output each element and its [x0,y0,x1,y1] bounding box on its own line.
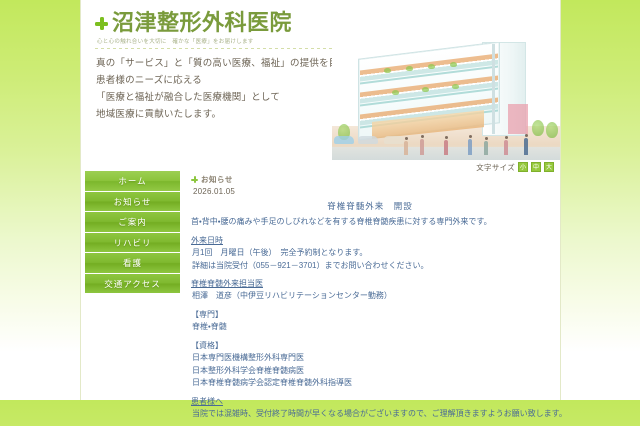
qualifications-section: 【資格】 日本専門医機構整形外科専門医 日本整形外科学会脊椎脊髄病医 日本脊椎脊… [191,340,549,390]
sidebar-item-rehabilitation[interactable]: リハビリ [85,233,180,254]
illustration-car [384,136,404,144]
site-logo[interactable]: 沼津整形外科医院 [95,12,292,36]
doctor-name: 相澤 道彦（中伊豆リハビリテーションセンター勤務） [191,290,549,303]
intro-line-2: 患者様のニーズに応える [96,72,351,89]
illustration-planter [428,64,435,69]
intro-line-3: 「医療と福祉が融合した医療機関」として [96,89,351,106]
illustration-planter [452,84,459,89]
site-tagline: 心と心の触れ合いを大切に 確かな「医療」をお届けします [97,37,254,45]
illustration-person [404,141,408,155]
notice-section-label: お知らせ [201,174,233,185]
illustration-car [358,136,378,144]
specialty-value: 脊椎・脊髄 [191,321,549,334]
sidebar-item-news[interactable]: お知らせ [85,192,180,213]
illustration-planter [406,66,413,71]
illustration-person [420,139,424,155]
doctor-section: 脊椎脊髄外来担当医 相澤 道彦（中伊豆リハビリテーションセンター勤務） [191,278,549,303]
sidebar-item-nursing[interactable]: 看護 [85,253,180,274]
green-cross-icon [95,17,108,30]
illustration-person [468,139,472,155]
clinic-name: 沼津整形外科医院 [112,12,292,36]
qualifications-title: 【資格】 [191,340,549,353]
specialty-section: 【専門】 脊椎・脊髄 [191,309,549,334]
qualification-item: 日本専門医機構整形外科専門医 [191,352,549,365]
intro-line-4: 地域医療に貢献いたします。 [96,106,351,123]
outpatient-hours-line-1: 月1回 月曜日（午後） 完全予約制となります。 [191,247,549,260]
doctor-section-title: 脊椎脊髄外来担当医 [191,278,263,289]
outpatient-hours-line-2: 詳細は当院受付（055－921－3701）までお問い合わせください。 [191,260,549,273]
font-size-medium-button[interactable]: 中 [531,162,541,172]
illustration-annex [508,104,528,134]
font-size-control[interactable]: 文字サイズ 小 中 大 [476,160,554,174]
patient-notice-text: 当院では混雑時、受付終了時間が早くなる場合がございますので、ご理解頂きますようお… [191,408,549,421]
illustration-person [444,140,448,155]
sidebar-nav: ホーム お知らせ ご案内 リハビリ 看護 交通アクセス [85,171,180,294]
illustration-person [504,140,508,155]
font-size-label: 文字サイズ [476,162,515,173]
site-header: 沼津整形外科医院 心と心の触れ合いを大切に 確かな「医療」をお届けします 真の「… [81,0,560,160]
sidebar-item-access[interactable]: 交通アクセス [85,274,180,295]
font-size-small-button[interactable]: 小 [518,162,528,172]
sidebar-item-information[interactable]: ご案内 [85,212,180,233]
illustration-car [334,136,354,144]
qualification-item: 日本脊椎脊髄病学会認定脊椎脊髄外科指導医 [191,377,549,390]
font-size-large-button[interactable]: 大 [544,162,554,172]
illustration-person [484,141,488,155]
intro-line-1: 真の「サービス」と「質の高い医療、福祉」の提供を目標に、 [96,55,351,72]
illustration-planter [384,68,391,73]
intro-paragraph: 真の「サービス」と「質の高い医療、福祉」の提供を目標に、 患者様のニーズに応える… [96,55,351,123]
notice-lead-text: 首・背中・腰の痛みや手足のしびれなどを有する脊椎脊髄疾患に対する専門外来です。 [191,215,549,228]
notice-date: 2026.01.05 [193,187,549,196]
illustration-planter [450,62,457,67]
page-container: 沼津整形外科医院 心と心の触れ合いを大切に 確かな「医療」をお届けします 真の「… [80,0,561,400]
hospital-building-illustration [332,42,560,160]
green-cross-icon [191,176,198,183]
illustration-tower-stripe [492,44,495,134]
outpatient-hours-title: 外来日時 [191,235,223,246]
body-area: ホーム お知らせ ご案内 リハビリ 看護 交通アクセス お知らせ 2026.01… [81,174,560,400]
notice-article: お知らせ 2026.01.05 脊椎脊髄外来 開設 首・背中・腰の痛みや手足のし… [191,174,549,426]
illustration-tree [546,122,558,138]
outpatient-hours-section: 外来日時 月1回 月曜日（午後） 完全予約制となります。 詳細は当院受付（055… [191,235,549,272]
illustration-tree [532,120,544,136]
notice-section-header: お知らせ [191,174,549,185]
illustration-planter [422,87,429,92]
illustration-planter [392,90,399,95]
patient-notice-section: 患者様へ 当院では混雑時、受付終了時間が早くなる場合がございますので、ご理解頂き… [191,396,549,421]
patient-notice-title: 患者様へ [191,396,223,407]
illustration-person [524,138,528,155]
sidebar-item-home[interactable]: ホーム [85,171,180,192]
specialty-title: 【専門】 [191,309,549,322]
notice-heading: 脊椎脊髄外来 開設 [191,200,549,212]
qualification-item: 日本整形外科学会脊椎脊髄病医 [191,365,549,378]
